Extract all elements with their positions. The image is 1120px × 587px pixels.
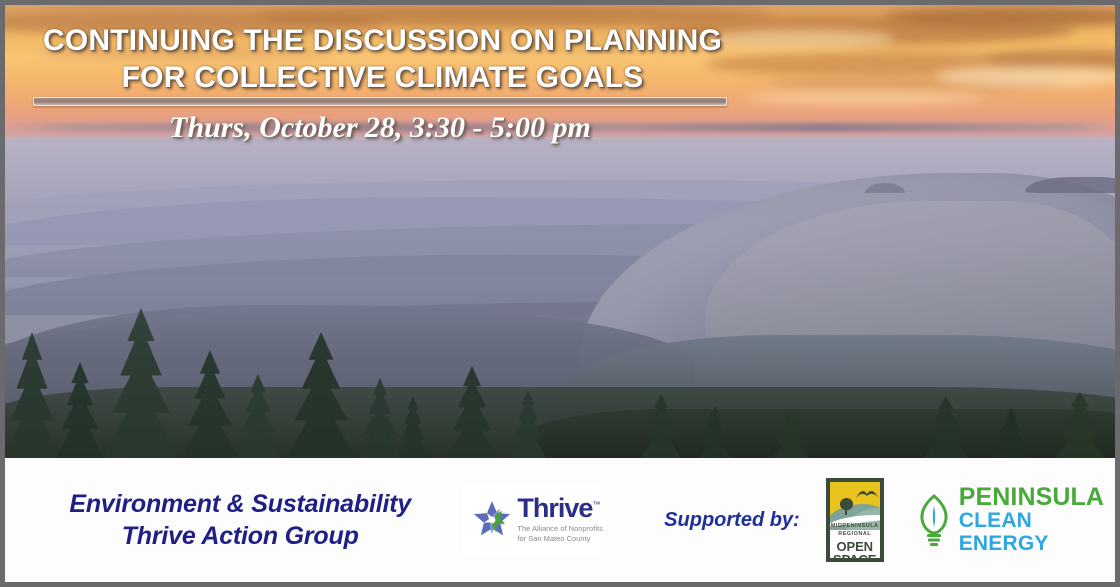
trademark-symbol: ™ bbox=[592, 500, 600, 509]
organizer-line-2: Thrive Action Group bbox=[57, 520, 423, 553]
cloud-highlight bbox=[935, 65, 1115, 87]
footer-bar: Environment & Sustainability Thrive Acti… bbox=[5, 458, 1115, 582]
openspace-line-3: OPEN bbox=[830, 540, 880, 553]
hero-landscape-photo: CONTINUING THE DISCUSSION ON PLANNING FO… bbox=[5, 5, 1115, 458]
supported-by-label: Supported by: bbox=[664, 509, 800, 532]
cloud-band bbox=[35, 45, 335, 61]
foreground-forest bbox=[525, 409, 1115, 458]
thrive-text-block: Thrive™ The Alliance of Nonprofits for S… bbox=[517, 496, 602, 545]
cloud-highlight bbox=[745, 91, 985, 105]
thrive-logo: Thrive™ The Alliance of Nonprofits for S… bbox=[463, 483, 606, 557]
openspace-line-2: REGIONAL bbox=[830, 531, 880, 539]
thrive-tagline-line-1: The Alliance of Nonprofits bbox=[517, 524, 602, 534]
openspace-line-4: SPACE bbox=[830, 553, 880, 562]
organizer-name: Environment & Sustainability Thrive Acti… bbox=[57, 488, 423, 553]
cloud-highlight bbox=[705, 29, 895, 49]
organizer-line-1: Environment & Sustainability bbox=[69, 490, 411, 518]
pce-wordmark: PENINSULA CLEAN ENERGY bbox=[959, 485, 1115, 554]
horizon-cloud-line bbox=[5, 123, 1115, 132]
thrive-pinwheel-star-icon bbox=[469, 497, 515, 543]
event-flyer: CONTINUING THE DISCUSSION ON PLANNING FO… bbox=[0, 0, 1120, 587]
cloud-band bbox=[415, 39, 695, 53]
logo-text-block: MIDPENINSULA REGIONAL OPEN SPACE bbox=[830, 523, 880, 562]
openspace-line-1: MIDPENINSULA bbox=[830, 523, 880, 531]
thrive-tagline: The Alliance of Nonprofits for San Mateo… bbox=[517, 524, 602, 544]
pce-line-2: CLEAN ENERGY bbox=[959, 510, 1115, 554]
title-divider-rule bbox=[33, 97, 727, 106]
leaf-lightbulb-icon bbox=[914, 493, 954, 547]
thrive-wordmark-text: Thrive bbox=[517, 493, 592, 523]
soaring-bird-icon bbox=[855, 488, 879, 500]
midpen-open-space-logo: MIDPENINSULA REGIONAL OPEN SPACE bbox=[826, 478, 884, 562]
sunset-ridges-photo bbox=[5, 5, 1115, 458]
peninsula-clean-energy-logo: PENINSULA CLEAN ENERGY bbox=[914, 485, 1115, 554]
logo-tree-trunk bbox=[845, 508, 847, 515]
thrive-wordmark: Thrive™ bbox=[517, 496, 602, 522]
thrive-tagline-line-2: for San Mateo County bbox=[517, 534, 602, 544]
pce-line-1: PENINSULA bbox=[959, 485, 1115, 509]
openspace-wordmark: OPEN SPACE bbox=[830, 540, 880, 562]
